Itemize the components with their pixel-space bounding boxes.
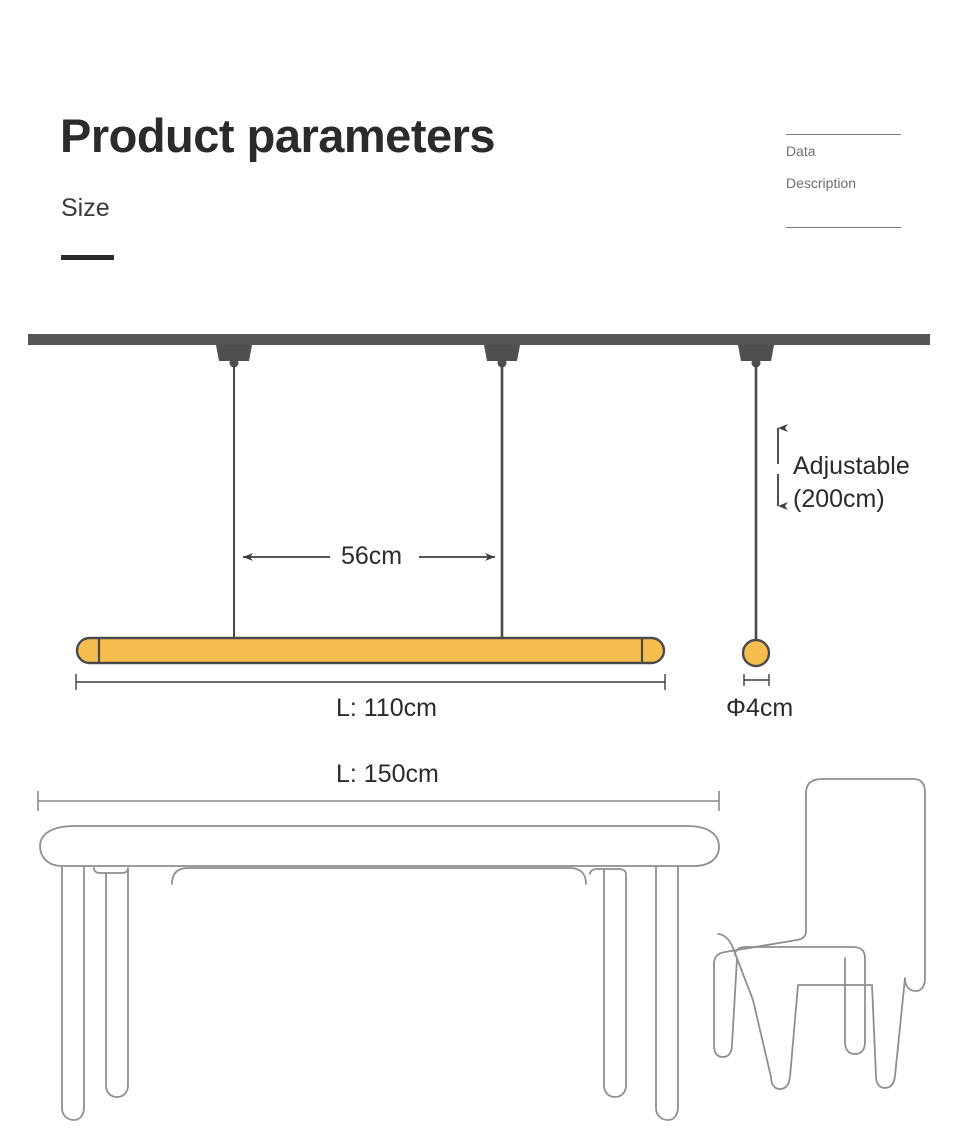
dimension-label-table-length: L: 150cm <box>336 762 439 787</box>
adjustable-line-2: (200cm) <box>793 483 910 516</box>
table-leg-back-left <box>94 868 128 1097</box>
dining-table-illustration <box>40 826 960 1120</box>
ceiling-track-group <box>28 334 930 368</box>
table-leg-front-left <box>62 866 84 1120</box>
suspension-cables-group <box>234 363 756 650</box>
dimension-label-diameter: Φ4cm <box>726 696 793 721</box>
table-leg-back-right <box>590 869 626 1097</box>
dimension-drawing <box>0 0 960 1147</box>
table-apron-left-edge <box>172 884 194 1096</box>
dining-chair-illustration <box>714 779 925 1089</box>
table-apron <box>172 868 586 884</box>
lamp-cross-section <box>743 640 769 686</box>
chair-outline-left <box>714 793 806 1057</box>
table-leg-front-right <box>656 866 678 1120</box>
pendant-lamp-bar <box>77 638 664 663</box>
chair-outline-right <box>718 779 925 1089</box>
chair-leg-inner <box>862 985 872 1071</box>
chair-seat-rail <box>735 947 865 1054</box>
lamp-diameter-circle <box>743 640 769 666</box>
dimension-label-56cm: 56cm <box>341 544 402 569</box>
ceiling-track-bar <box>28 334 930 345</box>
diameter-dimension-4cm <box>744 674 769 686</box>
lamp-body <box>77 638 664 663</box>
lamp-length-dimension-110cm <box>76 674 665 690</box>
adjustable-line-1: Adjustable <box>793 450 910 483</box>
product-parameters-page: Product parameters Size Data Description <box>0 0 960 1147</box>
table-length-dimension-150cm <box>38 791 719 811</box>
dimension-label-adjustable: Adjustable (200cm) <box>793 450 910 516</box>
table-top <box>40 826 719 866</box>
dimension-label-lamp-length: L: 110cm <box>336 696 437 721</box>
